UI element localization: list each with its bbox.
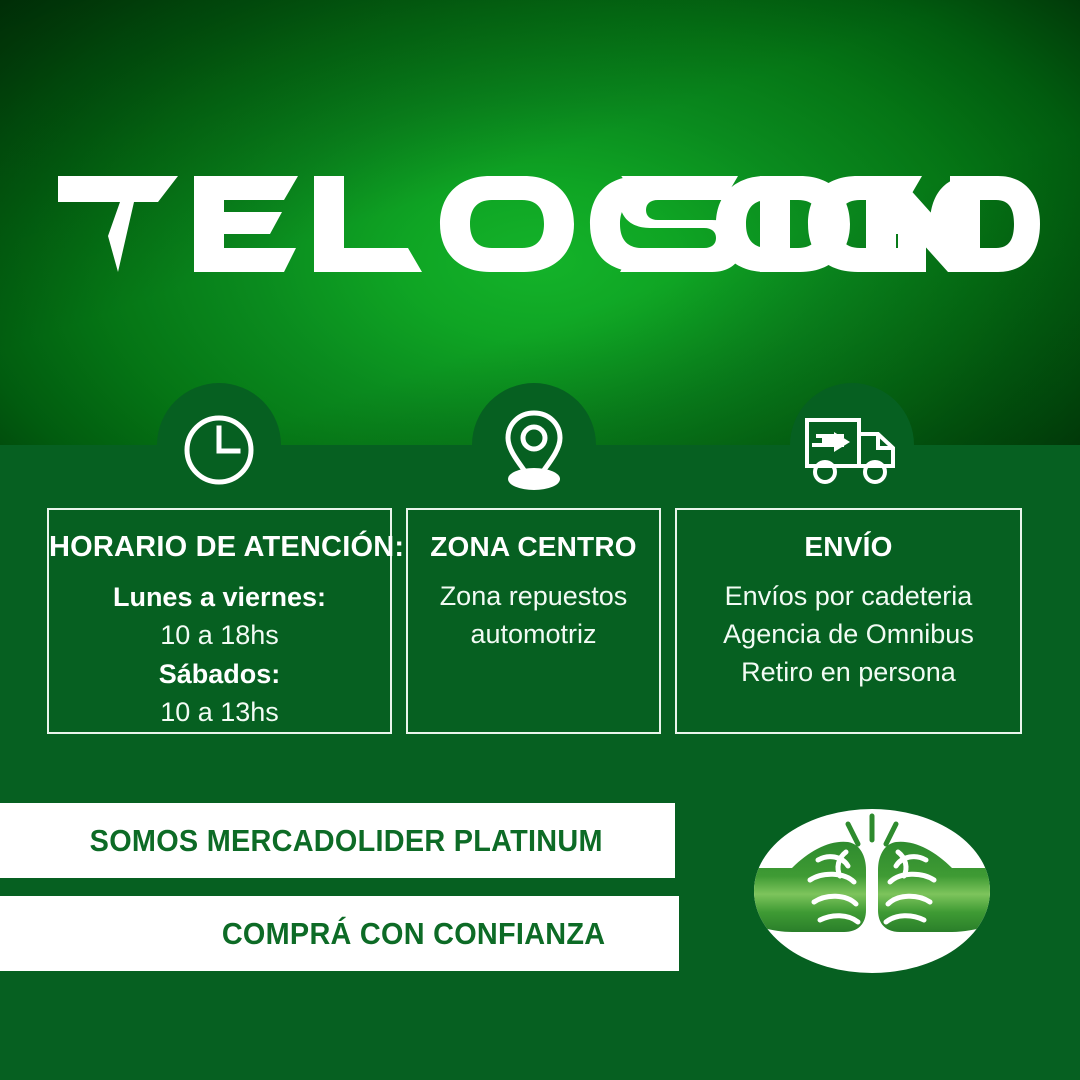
banner-confianza: COMPRÁ CON CONFIANZA [0,896,679,971]
clock-icon [157,398,281,502]
banner-mercadolider: SOMOS MERCADOLIDER PLATINUM [0,803,675,878]
banner-text: COMPRÁ CON CONFIANZA [73,916,605,952]
brand-logo-suffix [620,176,1040,276]
card-line: Retiro en persona [677,653,1020,691]
card-line: Lunes a viernes: [49,578,390,616]
card-line: 10 a 18hs [49,616,390,654]
feature-card-envio: ENVÍO Envíos por cadeteria Agencia de Om… [675,508,1022,734]
card-line: Sábados: [49,655,390,693]
card-body: Zona repuestos automotriz [408,577,659,654]
card-title: HORARIO DE ATENCIÓN: [49,532,390,564]
card-title: ENVÍO [677,532,1020,563]
fist-bump-icon [752,806,992,976]
card-line: automotriz [408,615,659,653]
card-body: Envíos por cadeteria Agencia de Omnibus … [677,577,1020,692]
card-body: Lunes a viernes: 10 a 18hs Sábados: 10 a… [49,578,390,731]
location-pin-icon [472,398,596,502]
banner-text: SOMOS MERCADOLIDER PLATINUM [73,823,603,859]
feature-cards: HORARIO DE ATENCIÓN: Lunes a viernes: 10… [0,508,1080,734]
card-line: Agencia de Omnibus [677,615,1020,653]
feature-card-zona: ZONA CENTRO Zona repuestos automotriz [406,508,661,734]
feature-card-horario: HORARIO DE ATENCIÓN: Lunes a viernes: 10… [47,508,392,734]
card-title: ZONA CENTRO [408,532,659,563]
card-line: 10 a 13hs [49,693,390,731]
delivery-truck-icon [790,398,914,502]
promo-graphic: HORARIO DE ATENCIÓN: Lunes a viernes: 10… [0,0,1080,1080]
card-line: Envíos por cadeteria [677,577,1020,615]
card-line: Zona repuestos [408,577,659,615]
